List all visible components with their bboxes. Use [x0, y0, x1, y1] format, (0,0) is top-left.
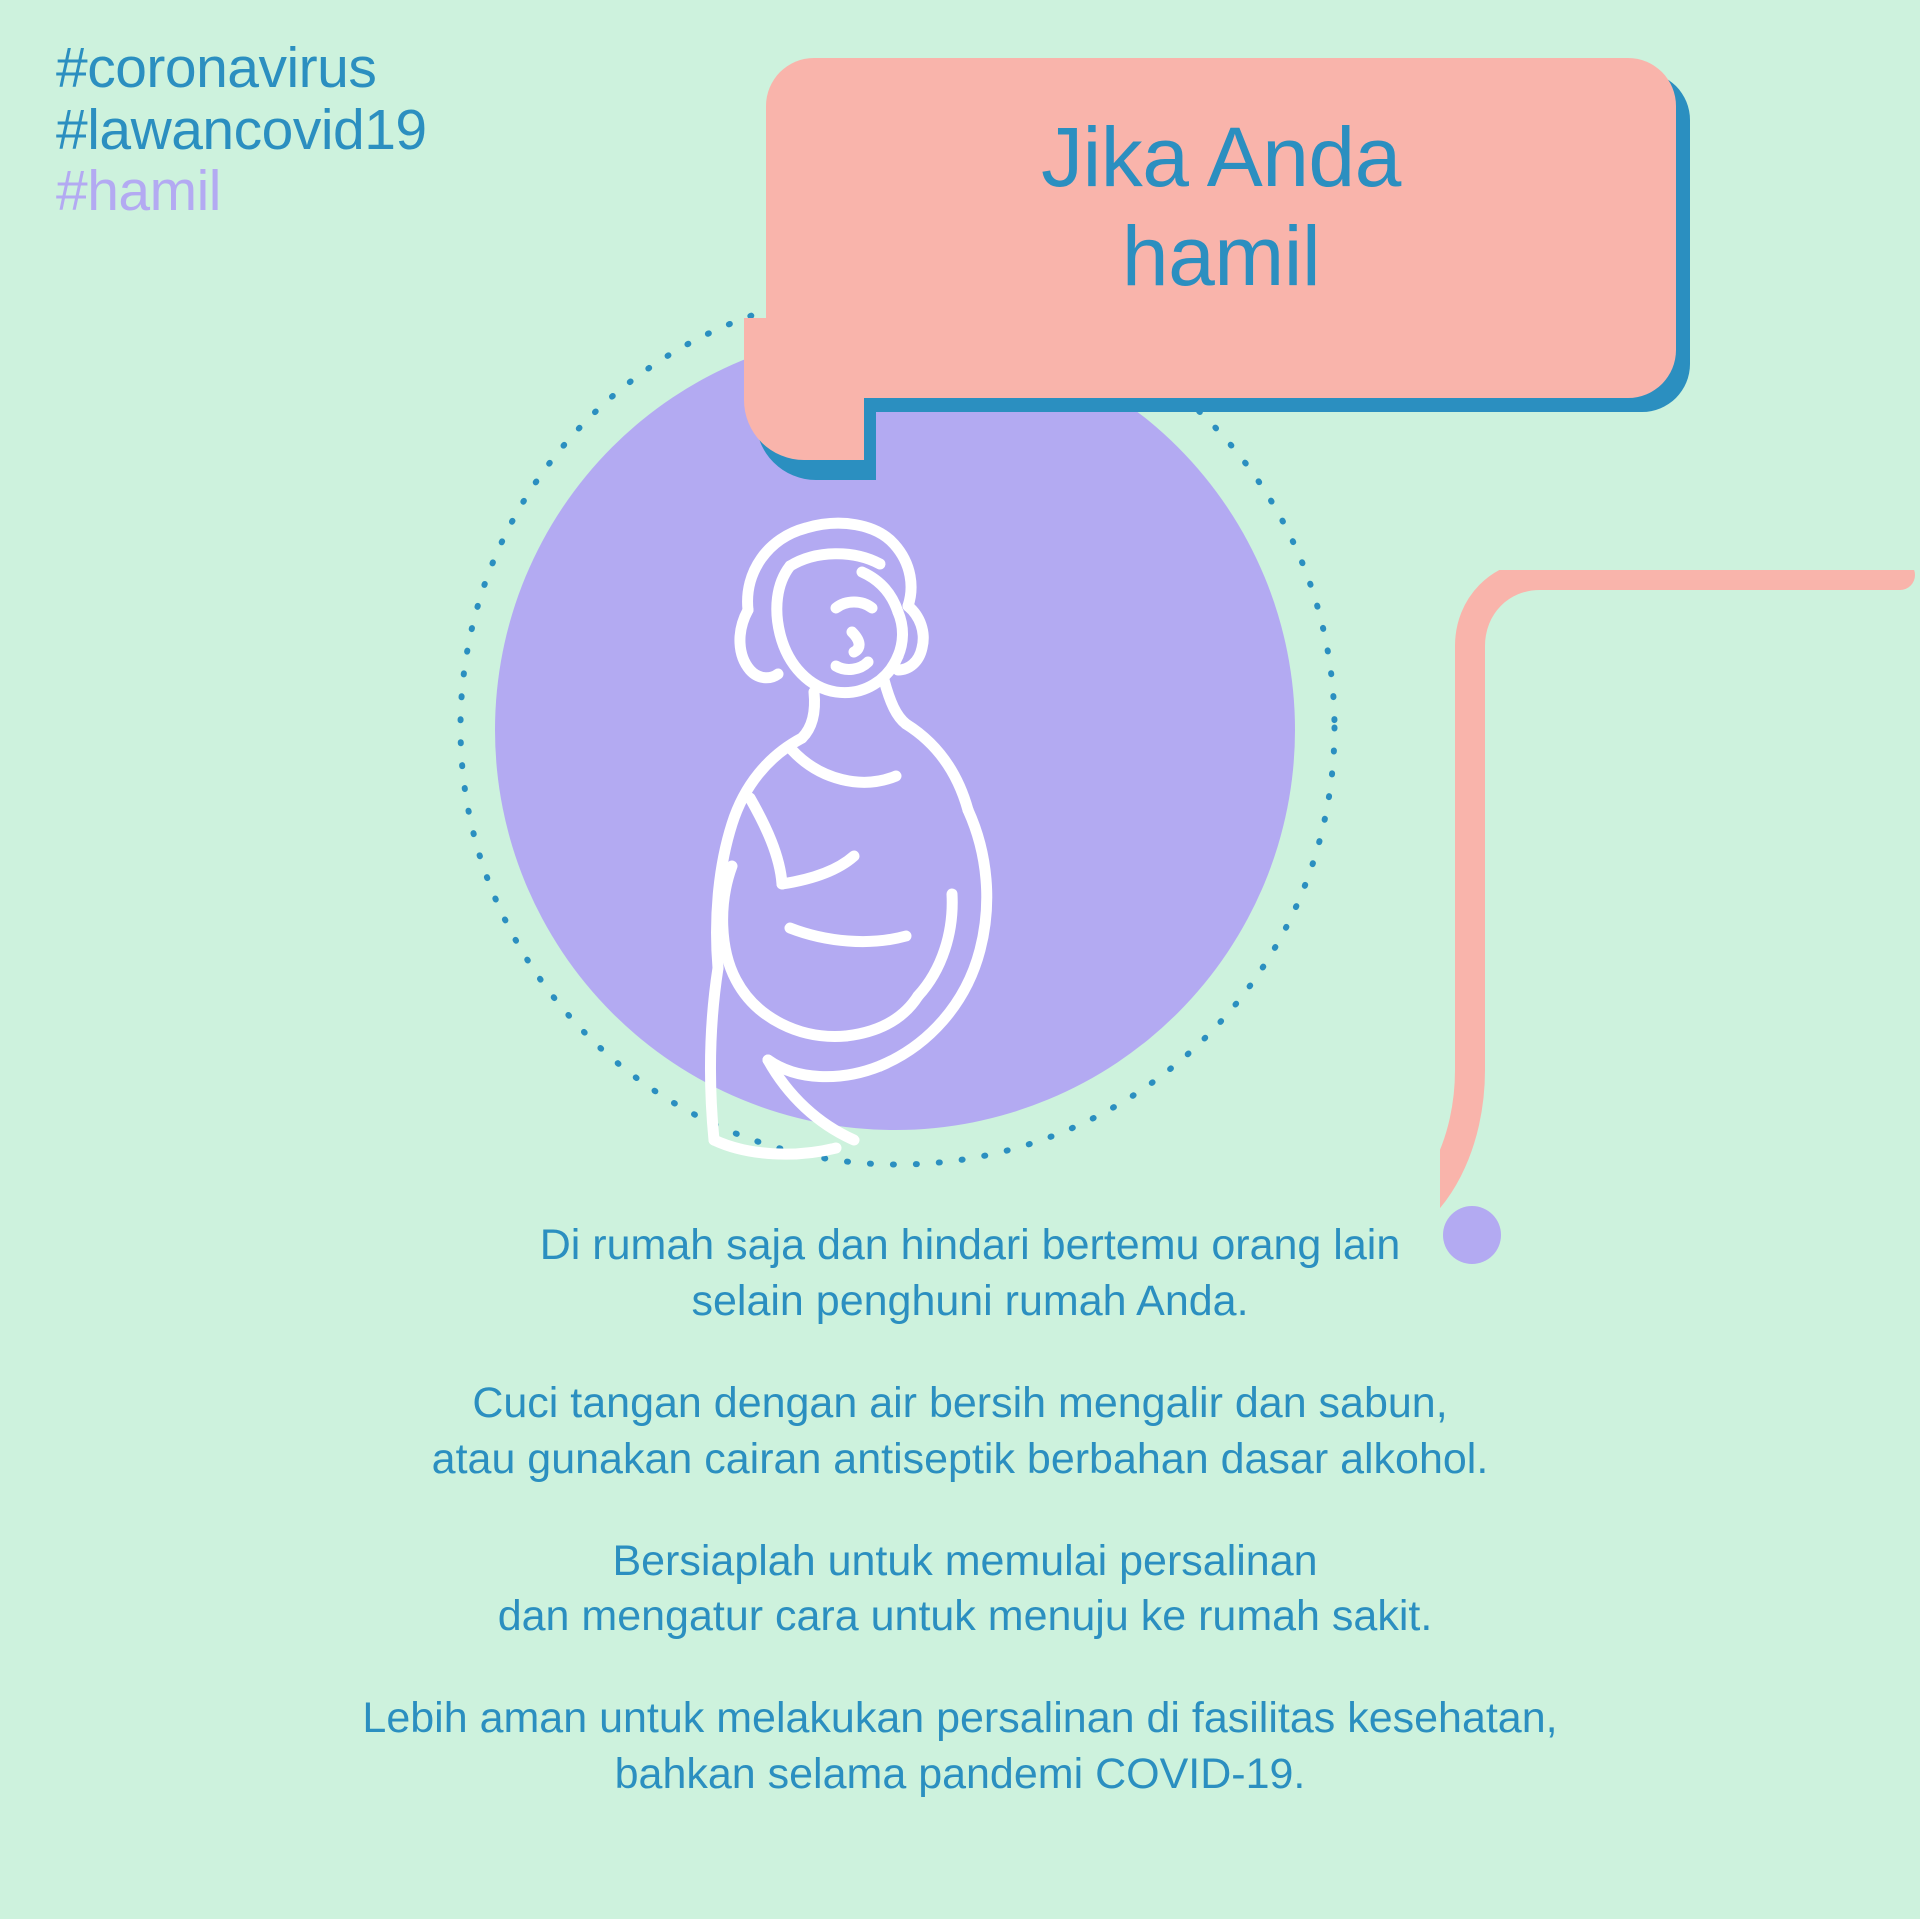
speech-bubble-title: Jika Anda hamil [766, 108, 1676, 306]
hashtag-coronavirus: #coronavirus [56, 38, 427, 100]
pregnant-woman-illustration [640, 480, 1160, 1170]
speech-bubble-tail [744, 318, 864, 460]
tip-item-3: Bersiaplah untuk memulai persalinan dan … [60, 1534, 1860, 1646]
tip-item-2: Cuci tangan dengan air bersih mengalir d… [60, 1376, 1860, 1488]
tip-item-1: Di rumah saja dan hindari bertemu orang … [60, 1218, 1860, 1330]
hashtag-hamil: #hamil [56, 161, 427, 223]
tip-item-4: Lebih aman untuk melakukan persalinan di… [60, 1691, 1860, 1803]
pink-hook-decoration [1440, 570, 1920, 1270]
poster-canvas: #coronavirus #lawancovid19 #hamil [0, 0, 1920, 1919]
tips-list: Di rumah saja dan hindari bertemu orang … [60, 1218, 1860, 1803]
hashtag-lawancovid19: #lawancovid19 [56, 100, 427, 162]
hashtag-group: #coronavirus #lawancovid19 #hamil [56, 38, 427, 223]
